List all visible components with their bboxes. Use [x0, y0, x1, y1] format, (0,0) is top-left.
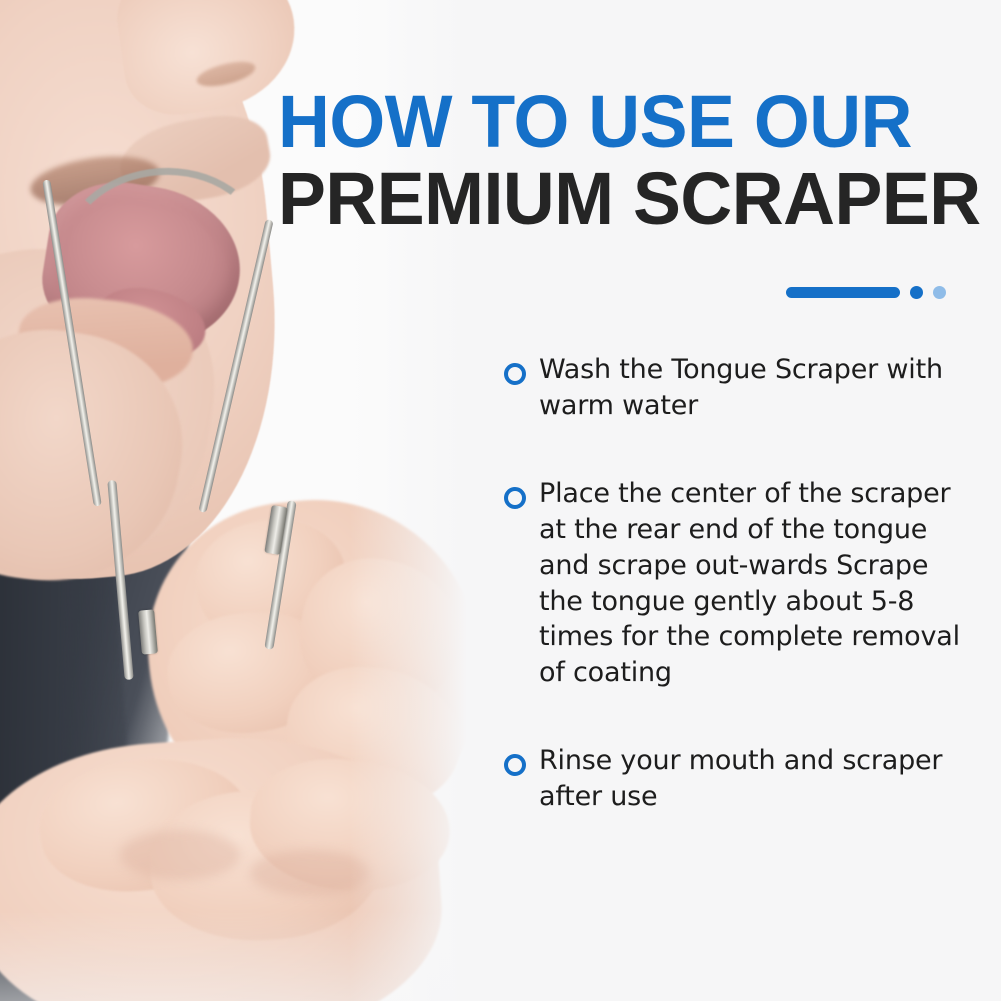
instructions-list: Wash the Tongue Scraper with warm water … [504, 352, 964, 815]
list-item: Place the center of the scraper at the r… [504, 476, 964, 691]
divider-dot-faded [933, 286, 946, 299]
photo-bottom-fade [0, 911, 500, 1001]
instruction-text: Wash the Tongue Scraper with warm water [539, 352, 964, 424]
headline-line-2: PREMIUM SCRAPER [278, 163, 938, 234]
list-item: Wash the Tongue Scraper with warm water [504, 352, 964, 424]
instruction-text: Place the center of the scraper at the r… [539, 476, 964, 691]
headline-block: HOW TO USE OUR PREMIUM SCRAPER [278, 86, 958, 234]
list-item: Rinse your mouth and scraper after use [504, 743, 964, 815]
divider-bar [786, 287, 900, 298]
headline-line-1: HOW TO USE OUR [278, 86, 938, 157]
ring-bullet-icon [504, 754, 526, 776]
decorative-divider [786, 286, 946, 299]
instruction-text: Rinse your mouth and scraper after use [539, 743, 964, 815]
ring-bullet-icon [504, 487, 526, 509]
ring-bullet-icon [504, 363, 526, 385]
infographic-canvas: HOW TO USE OUR PREMIUM SCRAPER Wash the … [0, 0, 1001, 1001]
divider-dot-solid [910, 286, 923, 299]
knuckle-shadow [120, 830, 240, 880]
